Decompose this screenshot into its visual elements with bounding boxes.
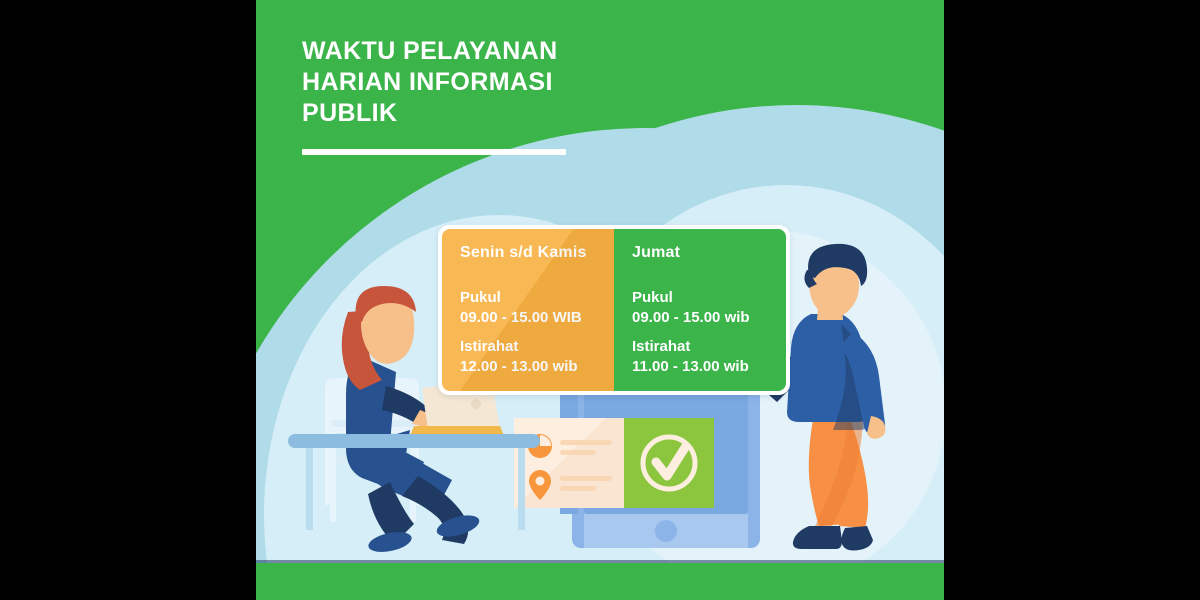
schedule-hours-value: 09.00 - 15.00 wib bbox=[632, 308, 786, 328]
schedule-day-label: Jumat bbox=[632, 244, 786, 262]
title-underline-rule bbox=[302, 149, 566, 155]
letterbox-left bbox=[0, 0, 256, 600]
letterbox-right bbox=[944, 0, 1200, 600]
title-line-3: PUBLIK bbox=[302, 99, 397, 127]
page-title: WAKTU PELAYANANHARIAN INFORMASIPUBLIK bbox=[302, 36, 632, 129]
schedule-hours-label: Pukul bbox=[632, 288, 786, 308]
schedule-card: Senin s/d Kamis Pukul 09.00 - 15.00 WIB … bbox=[438, 225, 790, 395]
ground-bar bbox=[256, 563, 944, 600]
schedule-break-label: Istirahat bbox=[632, 337, 786, 357]
title-line-2: HARIAN INFORMASI bbox=[302, 68, 553, 96]
schedule-column-friday: Jumat Pukul 09.00 - 15.00 wib Istirahat … bbox=[614, 229, 786, 391]
schedule-day-label: Senin s/d Kamis bbox=[460, 244, 614, 262]
poster-canvas: WAKTU PELAYANANHARIAN INFORMASIPUBLIK bbox=[0, 0, 1200, 600]
schedule-column-weekday: Senin s/d Kamis Pukul 09.00 - 15.00 WIB … bbox=[442, 229, 614, 391]
schedule-hours-label: Pukul bbox=[460, 288, 614, 308]
header: WAKTU PELAYANANHARIAN INFORMASIPUBLIK bbox=[302, 36, 632, 155]
title-line-1: WAKTU PELAYANAN bbox=[302, 37, 558, 65]
schedule-break-label: Istirahat bbox=[460, 337, 614, 357]
artboard: WAKTU PELAYANANHARIAN INFORMASIPUBLIK bbox=[256, 0, 944, 600]
schedule-break-value: 12.00 - 13.00 wib bbox=[460, 357, 614, 377]
schedule-hours-value: 09.00 - 15.00 WIB bbox=[460, 308, 614, 328]
schedule-break-value: 11.00 - 13.00 wib bbox=[632, 357, 786, 377]
